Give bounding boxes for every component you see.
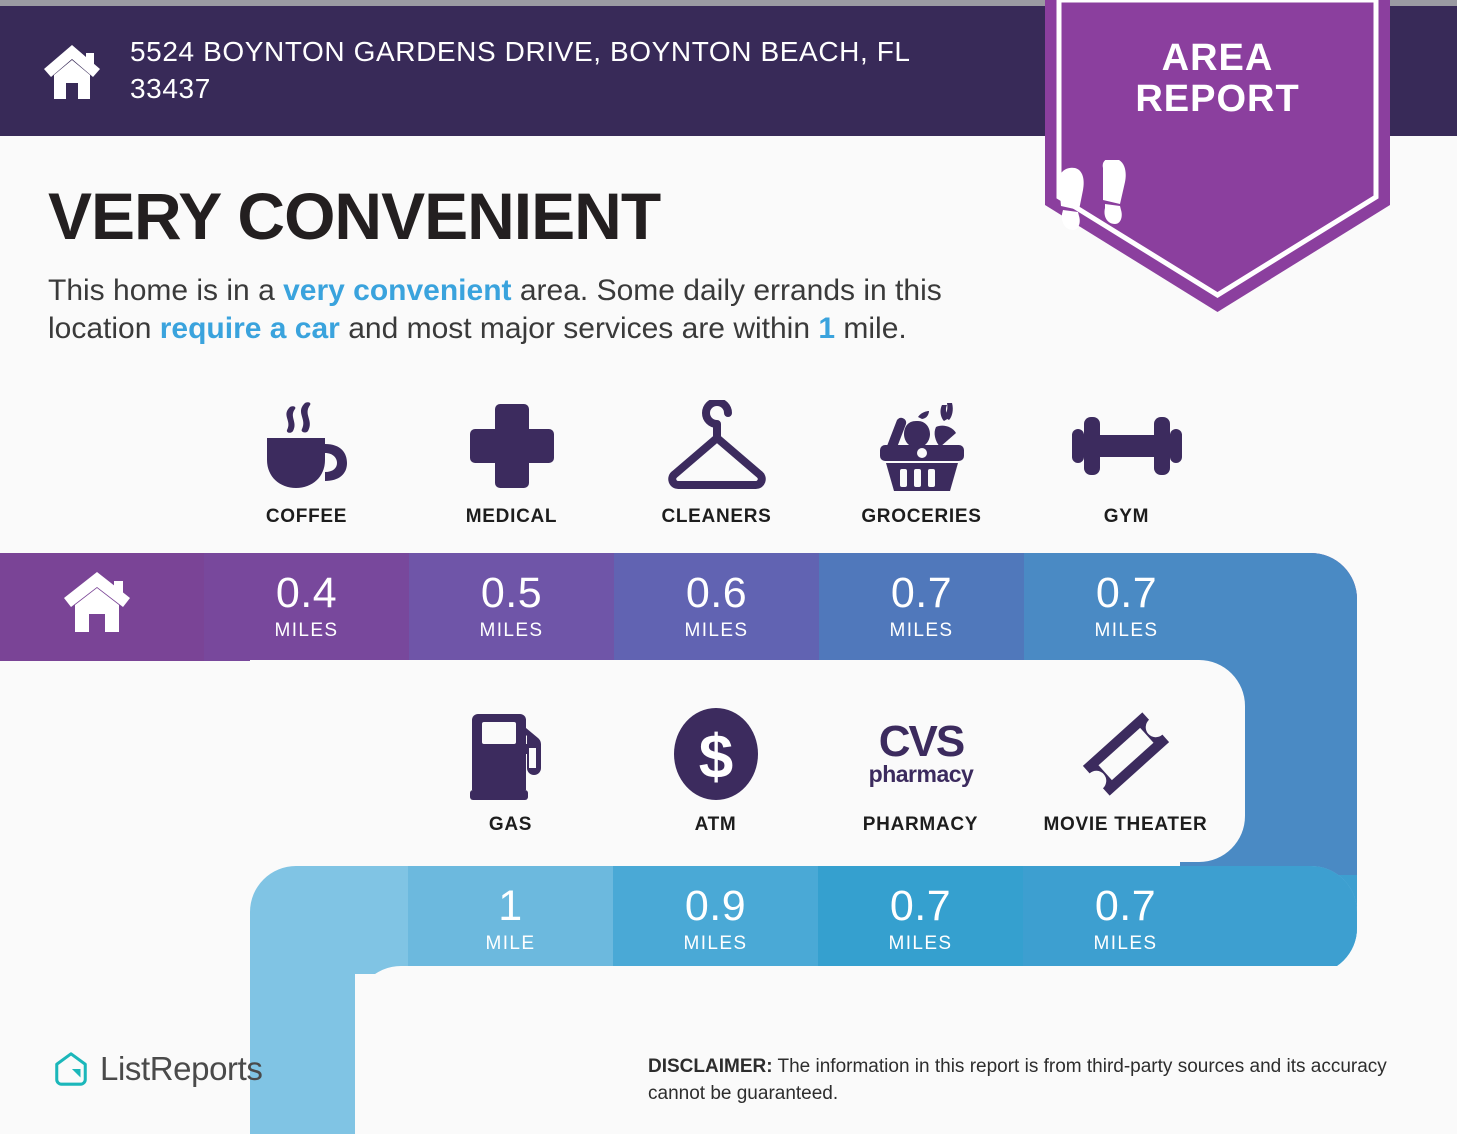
amenity-coffee: COFFEE [204,398,409,528]
distance-unit: MILES [1094,620,1158,642]
summary-part-3: and most major services are within [340,312,819,345]
distance-unit: MILES [274,620,338,642]
dumbbell-icon [1068,398,1186,494]
cvs-pharmacy-icon: CVS pharmacy [857,706,985,802]
distance-cell-atm: 0.9 MILES [613,866,818,974]
amenity-label: GROCERIES [861,506,981,528]
amenity-label: PHARMACY [863,814,978,836]
distance-value: 0.5 [481,572,542,615]
distance-value: 0.6 [686,572,747,615]
amenity-gas: GAS [408,706,613,836]
amenity-gym: GYM [1024,398,1229,528]
amenity-label: ATM [695,814,737,836]
distance-unit: MILES [683,933,747,955]
badge-title: AREA REPORT [1045,38,1390,120]
distance-value: 0.7 [1096,572,1157,615]
medical-cross-icon [466,398,558,494]
amenity-icon-row-bottom: GAS $ ATM CVS pharmacy PHARMACY [408,706,1228,836]
amenity-icon-row-top: COFFEE MEDICAL CLEANERS [204,398,1230,528]
distance-unit: MILES [1093,933,1157,955]
distance-value: 0.7 [1095,885,1156,928]
badge-title-line1: AREA [1045,38,1390,79]
summary-highlight-convenience: very convenient [283,274,511,307]
summary-text: This home is in a very convenient area. … [48,272,1038,349]
distance-cell-gas: 1 MILE [408,866,613,974]
coffee-cup-icon [259,398,355,494]
amenity-label: GAS [489,814,532,836]
home-icon [60,568,134,634]
distance-cell-groceries: 0.7 MILES [819,553,1024,661]
amenity-label: COFFEE [266,506,347,528]
svg-text:$: $ [698,723,732,792]
listreports-logo: ListReports [52,1050,263,1088]
distance-value: 0.7 [890,885,951,928]
distance-row-bottom: 1 MILE 0.9 MILES 0.7 MILES 0.7 MILES [408,866,1228,974]
distance-unit: MILES [684,620,748,642]
distance-value: 1 [498,885,522,928]
distance-value: 0.4 [276,572,337,615]
distance-cell-cleaners: 0.6 MILES [614,553,819,661]
property-address: 5524 BOYNTON GARDENS DRIVE, BOYNTON BEAC… [130,34,990,108]
distance-unit: MILES [479,620,543,642]
area-report-badge: AREA REPORT [1045,0,1390,312]
disclaimer-label: DISCLAIMER: [648,1056,773,1077]
distance-cell-movie-theater: 0.7 MILES [1023,866,1228,974]
distance-value: 0.9 [685,885,746,928]
badge-title-line2: REPORT [1045,79,1390,120]
listreports-house-tag-icon [52,1050,90,1088]
listreports-logo-text: ListReports [100,1050,263,1088]
amenity-label: CLEANERS [661,506,771,528]
amenity-pharmacy: CVS pharmacy PHARMACY [818,706,1023,836]
distance-unit: MILES [888,933,952,955]
movie-ticket-icon [1076,706,1176,802]
amenity-groceries: GROCERIES [819,398,1024,528]
summary-highlight-distance: 1 [818,312,835,345]
grocery-basket-icon [872,398,972,494]
amenity-label: MEDICAL [466,506,557,528]
disclaimer: DISCLAIMER: The information in this repo… [648,1054,1418,1108]
summary-part-1: This home is in a [48,274,283,307]
distance-cell-pharmacy: 0.7 MILES [818,866,1023,974]
distance-cell-medical: 0.5 MILES [409,553,614,661]
distance-row-top: 0.4 MILES 0.5 MILES 0.6 MILES 0.7 MILES … [204,553,1230,661]
bottom-white-card [355,966,1457,1134]
page-title: VERY CONVENIENT [48,178,660,254]
amenity-medical: MEDICAL [409,398,614,528]
amenity-cleaners: CLEANERS [614,398,819,528]
distance-unit: MILE [486,933,536,955]
footprints-icon [1045,160,1390,244]
distance-cell-gym: 0.7 MILES [1024,553,1229,661]
amenity-label: GYM [1104,506,1149,528]
summary-highlight-car: require a car [160,312,340,345]
distance-cell-coffee: 0.4 MILES [204,553,409,661]
svg-text:CVS: CVS [878,717,963,766]
home-icon [40,41,104,101]
amenity-label: MOVIE THEATER [1044,814,1208,836]
dollar-circle-icon: $ [670,706,762,802]
amenity-atm: $ ATM [613,706,818,836]
summary-part-4: mile. [835,312,907,345]
gas-pump-icon [468,706,554,802]
distance-unit: MILES [889,620,953,642]
amenity-movie-theater: MOVIE THEATER [1023,706,1228,836]
svg-text:pharmacy: pharmacy [868,761,973,787]
distance-value: 0.7 [891,572,952,615]
clothes-hanger-icon [663,398,771,494]
